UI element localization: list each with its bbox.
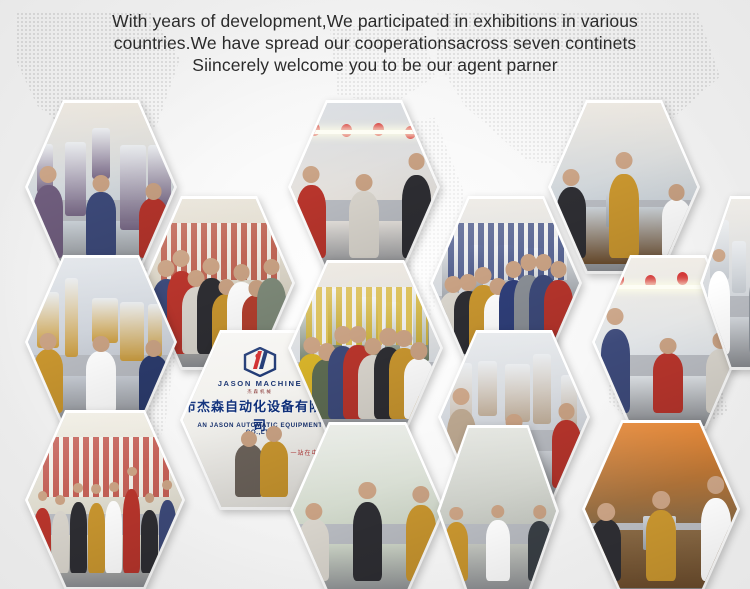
photo-person	[646, 510, 676, 581]
office-meeting-laptop-three-people[interactable]	[585, 423, 737, 589]
hexagon-frame	[582, 420, 740, 589]
gallery-hexagon[interactable]	[700, 196, 750, 370]
photo-image	[703, 199, 750, 367]
photo-person	[445, 522, 468, 581]
photo-person	[235, 444, 263, 496]
scene-machine	[65, 278, 79, 357]
poster-headline: With years of development,We participate…	[0, 10, 750, 76]
photo-person	[141, 510, 158, 573]
photo-person	[34, 185, 63, 258]
scene-machine	[732, 241, 746, 293]
photo-person	[70, 502, 87, 573]
photo-person	[159, 500, 176, 574]
photo-person	[34, 508, 51, 573]
photo-scene-office-meeting	[585, 423, 737, 589]
gallery-hexagon[interactable]	[437, 425, 559, 589]
photo-person	[297, 185, 326, 258]
photo-person	[653, 353, 682, 413]
red-lantern-decoration	[613, 273, 624, 286]
photo-image	[293, 425, 442, 589]
photo-person	[402, 175, 431, 258]
photo-image	[28, 258, 174, 426]
photo-person	[601, 329, 630, 412]
poster-canvas: With years of development,We participate…	[0, 0, 750, 589]
gallery-hexagon[interactable]	[582, 420, 740, 589]
hexagon-frame	[290, 422, 445, 589]
hexagon-frame	[25, 410, 185, 589]
photo-person	[404, 358, 434, 419]
photo-image	[440, 428, 556, 589]
headline-line-3: Siincerely welcome you to be our agent p…	[0, 54, 750, 76]
photo-image	[291, 103, 437, 271]
hexagon-frame	[548, 100, 700, 274]
photo-scene-group-booth	[291, 263, 440, 433]
photo-scene-desk-meeting	[551, 103, 697, 271]
red-lantern-decoration	[677, 272, 688, 285]
photo-person	[123, 489, 140, 574]
trade-show-visitors-red-lanterns[interactable]	[291, 103, 437, 271]
scene-machine	[533, 354, 551, 424]
photo-scene-big-group	[28, 413, 182, 587]
photo-person	[139, 355, 168, 413]
photo-person	[609, 174, 638, 258]
hexagon-frame	[288, 260, 443, 436]
photo-wall	[43, 437, 169, 496]
photo-scene-showroom-lantern	[291, 103, 437, 271]
scene-machine	[120, 302, 144, 361]
gallery-hexagon[interactable]	[548, 100, 700, 274]
hexagon-frame	[25, 255, 177, 429]
ceiling-light	[306, 130, 423, 134]
scene-machine	[65, 142, 86, 217]
photo-person	[88, 503, 105, 573]
photo-person	[86, 351, 115, 412]
photo-person	[406, 505, 436, 581]
photo-person	[708, 271, 731, 354]
photo-person	[591, 519, 621, 581]
photo-person	[353, 502, 383, 581]
hexagon-frame	[700, 196, 750, 370]
photo-person	[557, 187, 586, 257]
gallery-hexagon[interactable]	[25, 255, 177, 429]
photo-person	[86, 192, 115, 257]
photo-scene-machine-room	[28, 258, 174, 426]
engineer-explaining-to-clients[interactable]	[551, 103, 697, 271]
photo-image	[291, 263, 440, 433]
hexagon-frame	[288, 100, 440, 274]
large-group-photo-office-wall[interactable]	[28, 413, 182, 587]
photo-person	[349, 191, 378, 257]
photo-image	[585, 423, 737, 589]
hexagon-frame	[437, 425, 559, 589]
couple-customers-factory-entrance[interactable]	[293, 425, 442, 589]
photo-person	[528, 521, 551, 581]
photo-image	[551, 103, 697, 271]
gallery-hexagon[interactable]	[25, 410, 185, 589]
african-customers-group-booth[interactable]	[291, 263, 440, 433]
photo-person	[299, 519, 329, 581]
scene-machine	[92, 128, 110, 180]
photo-person	[486, 520, 509, 580]
scene-machine	[478, 361, 498, 417]
headline-line-1: With years of development,We participate…	[0, 10, 750, 32]
photo-person	[105, 501, 122, 573]
booth-corner-electronics[interactable]	[703, 199, 750, 367]
photo-person	[662, 199, 691, 257]
partner-visit-garden-man[interactable]	[440, 428, 556, 589]
photo-person	[701, 498, 731, 581]
gallery-hexagon[interactable]	[290, 422, 445, 589]
photo-scene-entrance	[293, 425, 442, 589]
photo-scene-garden-visit	[440, 428, 556, 589]
photo-person	[260, 441, 288, 497]
photo-person	[34, 349, 63, 412]
label-machine-operator-woman[interactable]	[28, 258, 174, 426]
photo-person	[52, 511, 69, 573]
headline-line-2: countries.We have spread our cooperation…	[0, 32, 750, 54]
gallery-hexagon[interactable]	[288, 100, 440, 274]
photo-scene-booth-corner	[703, 199, 750, 367]
photo-image	[28, 413, 182, 587]
gallery-hexagon[interactable]	[288, 260, 443, 436]
